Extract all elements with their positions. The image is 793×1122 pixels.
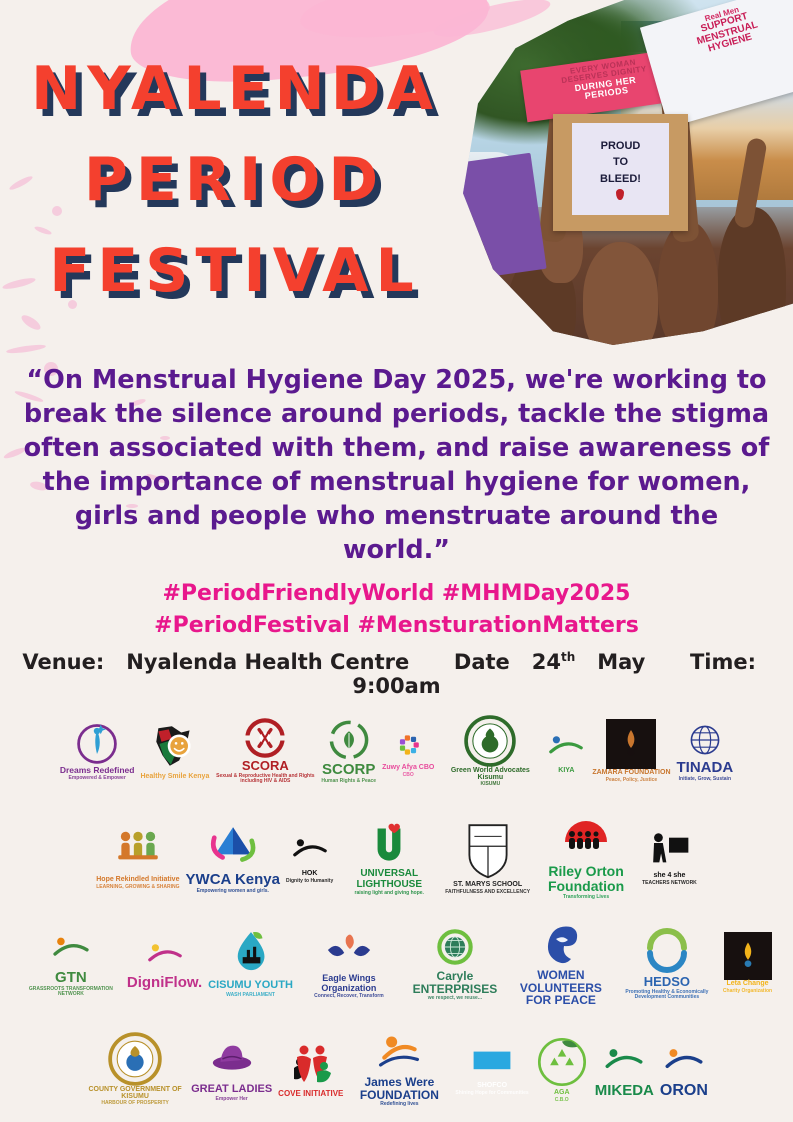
placard-board-line-3: BLEED! <box>600 171 641 188</box>
partner-logo-name: SCORA <box>242 759 289 773</box>
partner-logo-tagline: HARBOUR OF PROSPERITY <box>101 1101 169 1106</box>
partner-logo: KIYA <box>546 727 586 774</box>
school-crest-shield-icon <box>457 819 519 881</box>
partner-logo-tagline: Connect, Recover, Transform <box>314 994 383 999</box>
hashtags-line-2: #PeriodFestival #MensturationMatters <box>0 610 793 642</box>
partner-logo-tagline: Initiate, Grow, Sustain <box>679 777 731 782</box>
partner-logo-name: HEDSO <box>644 975 690 989</box>
partner-logo-tagline: Empower Her <box>216 1097 248 1102</box>
logo-row-2: Hope Rekindled InitiativeLEARNING, GROWI… <box>0 804 793 910</box>
partner-logo: AGAC.B.O <box>535 1035 589 1103</box>
partner-logo-name: GREAT LADIES <box>191 1084 272 1096</box>
partner-logo-tagline: Human Rights & Peace <box>321 779 376 784</box>
partner-logo: UNIVERSAL LIGHTHOUSEraising light and gi… <box>339 817 439 896</box>
time-label: Time: <box>690 650 756 674</box>
partner-logos-grid: Dreams RedefinedEmpowered & EmpowerHealt… <box>0 698 793 1122</box>
partner-logo: TINADAInitiate, Grow, Sustain <box>677 720 734 782</box>
globe-grid-icon <box>685 720 725 760</box>
partner-logo-tagline: Peace, Policy, Justice <box>606 778 658 783</box>
partner-logo: Hope Rekindled InitiativeLEARNING, GROWI… <box>96 824 179 890</box>
partner-logo: COUNTY GOVERNMENT OF KISUMUHARBOUR OF PR… <box>85 1032 185 1107</box>
partner-logo: Riley Orton FoundationTransforming Lives <box>536 814 636 900</box>
time-value: 9:00am <box>352 674 440 698</box>
gtn-wordmark-icon <box>50 928 92 970</box>
partner-logo-name: TINADA <box>677 760 734 776</box>
title-line-2: PERIOD <box>0 135 470 226</box>
hashtags-block: #PeriodFriendlyWorld #MHMDay2025 #Period… <box>0 578 793 642</box>
partner-logo: ST. MARYS SCHOOLFAITHFULNESS AND EXCELLE… <box>445 819 530 895</box>
partner-logo-name: SHOFCO <box>477 1082 507 1089</box>
county-seal-icon <box>108 1032 162 1086</box>
partner-logo: ZAMARA FOUNDATIONPeace, Policy, Justice <box>592 719 670 783</box>
partner-logo-name: Green World Advocates Kisumu <box>440 767 540 782</box>
partner-logo: GTNGRASSROOTS TRANSFORMATION NETWORK <box>21 928 121 997</box>
partner-logo: HEDSOPromoting Healthy & Economically De… <box>617 925 717 1000</box>
partner-logo-tagline: WASH PARLIAMENT <box>226 993 275 998</box>
partner-logo-tagline: Promoting Healthy & Economically Develop… <box>617 990 717 1001</box>
partner-logo: she 4 sheTEACHERS NETWORK <box>642 828 697 886</box>
title-line-3: FESTIVAL <box>0 226 470 317</box>
scora-circle-icon <box>244 717 286 759</box>
placard-proud-to-bleed: PROUD TO BLEED! <box>553 114 688 231</box>
partner-logo: Eagle Wings OrganizationConnect, Recover… <box>299 926 399 999</box>
scorp-hand-leaf-icon <box>327 718 371 762</box>
partner-logo-name: Leta Change <box>726 980 768 987</box>
partner-logo-tagline: GRASSROOTS TRANSFORMATION NETWORK <box>21 987 121 998</box>
partner-logo-name: DigniFlow. <box>127 975 202 991</box>
partner-logo-name: COUNTY GOVERNMENT OF KISUMU <box>85 1086 185 1101</box>
partner-logo-name: Caryle ENTERPRISES <box>405 970 505 995</box>
partner-logo-name: Healthy Smile Kenya <box>140 773 209 780</box>
quote-text: “On Menstrual Hygiene Day 2025, we're wo… <box>18 364 775 567</box>
partner-logo: ORON <box>660 1039 708 1100</box>
sun-arc-icon <box>376 1030 422 1076</box>
partner-logo: YWCA KenyaEmpowering women and girls. <box>186 820 280 894</box>
partner-logo-tagline: Empowered & Empower <box>69 776 126 781</box>
event-details-line: Venue: Nyalenda Health Centre Date 24th … <box>0 650 793 698</box>
partner-logo-name: Hope Rekindled Initiative <box>96 876 179 883</box>
partner-logo-tagline: raising light and giving hope. <box>355 891 424 896</box>
date-label: Date <box>454 650 510 674</box>
partner-logo-name: Zuwy Afya CBO <box>382 764 434 771</box>
partner-logo-tagline: Redefining lives <box>380 1102 418 1107</box>
partner-logo: GREAT LADIESEmpower Her <box>191 1036 272 1102</box>
hashtags-line-1: #PeriodFriendlyWorld #MHMDay2025 <box>0 578 793 610</box>
recycle-leaf-icon <box>535 1035 589 1089</box>
partner-logo-tagline: Sexual & Reproductive Health and Rights … <box>215 774 315 785</box>
partner-logo-tagline: CBO <box>403 773 414 778</box>
partner-logo: SHOFCOShining Hope for Communities <box>455 1042 528 1096</box>
partner-logo-name: CISUMU YOUTH <box>208 980 293 992</box>
placard-board-line-1: PROUD <box>601 138 641 155</box>
green-u-heart-icon <box>363 817 415 869</box>
partner-logo: Healthy Smile Kenya <box>140 721 209 780</box>
partner-logo-name: AGA <box>554 1089 570 1096</box>
green-globe-swirl-icon <box>432 924 478 970</box>
partner-logo-name: SCORP <box>322 762 375 778</box>
leta-change-heart-icon <box>724 932 772 980</box>
venue-label: Venue: <box>22 650 104 674</box>
partner-logo-tagline: Dignity to Humanity <box>286 879 333 884</box>
partner-logo-tagline: Charity Organization <box>723 989 772 994</box>
partner-logo-tagline: LEARNING, GROWING & SHARING <box>96 885 179 890</box>
ywca-triangle-icon <box>207 820 259 872</box>
partner-logo: James Were FOUNDATIONRedefining lives <box>349 1030 449 1107</box>
poster-title: NYALENDA PERIOD FESTIVAL <box>0 44 470 318</box>
blood-drop-icon <box>616 189 624 200</box>
partner-logo-tagline: TEACHERS NETWORK <box>642 881 697 886</box>
partner-logo-name: Riley Orton Foundation <box>536 864 636 893</box>
logo-row-1: Dreams RedefinedEmpowered & EmpowerHealt… <box>0 698 793 804</box>
poster-canvas: EVERY WOMAN DESERVES DIGNITY DURING HER … <box>0 0 793 1122</box>
partner-logo-name: COVE INITIATIVE <box>278 1090 343 1098</box>
three-people-table-icon <box>112 824 164 876</box>
partner-logo: CISUMU YOUTHWASH PARLIAMENT <box>208 928 293 998</box>
date-ordinal: th <box>561 650 575 664</box>
partner-logo-name: HOK <box>302 870 318 877</box>
partner-logo: HOKDignity to Humanity <box>286 830 333 884</box>
partner-logo: Zuwy Afya CBOCBO <box>382 724 434 778</box>
partner-logo: SCORPHuman Rights & Peace <box>321 718 376 784</box>
partner-logo: Leta ChangeCharity Organization <box>723 932 772 994</box>
logo-row-3: GTNGRASSROOTS TRANSFORMATION NETWORKDign… <box>0 910 793 1016</box>
partner-logo-name: ST. MARYS SCHOOL <box>453 881 522 888</box>
partner-logo: DigniFlow. <box>127 935 202 991</box>
partner-logo-name: KIYA <box>558 767 574 774</box>
partner-logo-name: she 4 she <box>653 872 685 879</box>
partner-logo: COVE INITIATIVE <box>278 1040 343 1098</box>
partner-logo-tagline: Shining Hope for Communities <box>455 1091 528 1096</box>
woman-dove-icon <box>536 919 586 969</box>
partner-logo-tagline: FAITHFULNESS AND EXCELLENCY <box>445 890 530 895</box>
date-month: May <box>597 650 645 674</box>
partner-logo-name: YWCA Kenya <box>186 872 280 888</box>
partner-logo-name: GTN <box>55 970 87 986</box>
zamara-flame-icon <box>606 719 656 769</box>
shofco-box-icon <box>472 1042 512 1082</box>
hok-wordmark-icon <box>290 830 330 870</box>
event-photo-collage: EVERY WOMAN DESERVES DIGNITY DURING HER … <box>418 0 793 345</box>
partner-logo-tagline: Transforming Lives <box>563 895 609 900</box>
kiya-leaf-icon <box>546 727 586 767</box>
puzzle-people-icon <box>388 724 428 764</box>
partner-logo-name: ORON <box>660 1083 708 1100</box>
kenya-map-smile-icon <box>149 721 201 773</box>
placard-board-line-2: TO <box>613 154 628 171</box>
mikeda-sunburst-icon <box>602 1039 646 1083</box>
partner-logo-name: MIKEDA <box>595 1083 654 1099</box>
partner-logo: Caryle ENTERPRISESwe respect, we reuse..… <box>405 924 505 1001</box>
ribbon-figure-icon <box>74 720 120 766</box>
date-number: 24 <box>532 650 561 674</box>
partner-logo-name: Dreams Redefined <box>60 766 135 775</box>
venue-value: Nyalenda Health Centre <box>126 650 409 674</box>
logo-row-4: COUNTY GOVERNMENT OF KISUMUHARBOUR OF PR… <box>0 1016 793 1122</box>
eagle-wings-icon <box>325 926 373 974</box>
family-arc-icon <box>561 814 611 864</box>
title-line-1: NYALENDA <box>0 44 470 135</box>
lady-hat-icon <box>208 1036 256 1084</box>
partner-logo-name: UNIVERSAL LIGHTHOUSE <box>339 869 439 890</box>
partner-logo: Green World Advocates KisumuKISUMU <box>440 715 540 788</box>
partner-logo: Dreams RedefinedEmpowered & Empower <box>60 720 135 781</box>
partner-logo-name: ZAMARA FOUNDATION <box>592 769 670 776</box>
partner-logo: WOMEN VOLUNTEERS FOR PEACE <box>511 919 611 1007</box>
partner-logo-name: James Were FOUNDATION <box>349 1076 449 1101</box>
hedso-hands-icon <box>642 925 692 975</box>
partner-logo: MIKEDA <box>595 1039 654 1099</box>
partner-logo: SCORASexual & Reproductive Health and Ri… <box>215 717 315 784</box>
partner-logo-name: WOMEN VOLUNTEERS FOR PEACE <box>511 969 611 1007</box>
partner-logo-tagline: C.B.O <box>555 1098 569 1103</box>
three-figures-icon <box>286 1040 336 1090</box>
oron-swoosh-icon <box>662 1039 706 1083</box>
partner-logo-tagline: KISUMU <box>480 782 500 787</box>
teacher-board-icon <box>647 828 691 872</box>
green-globe-tree-seal-icon <box>464 715 516 767</box>
water-drop-city-icon <box>225 928 277 980</box>
partner-logo-tagline: Empowering women and girls. <box>197 889 269 894</box>
partner-logo-name: Eagle Wings Organization <box>299 974 399 993</box>
digniflow-wordmark-icon <box>145 935 185 975</box>
partner-logo-tagline: we respect, we reuse... <box>428 996 482 1001</box>
